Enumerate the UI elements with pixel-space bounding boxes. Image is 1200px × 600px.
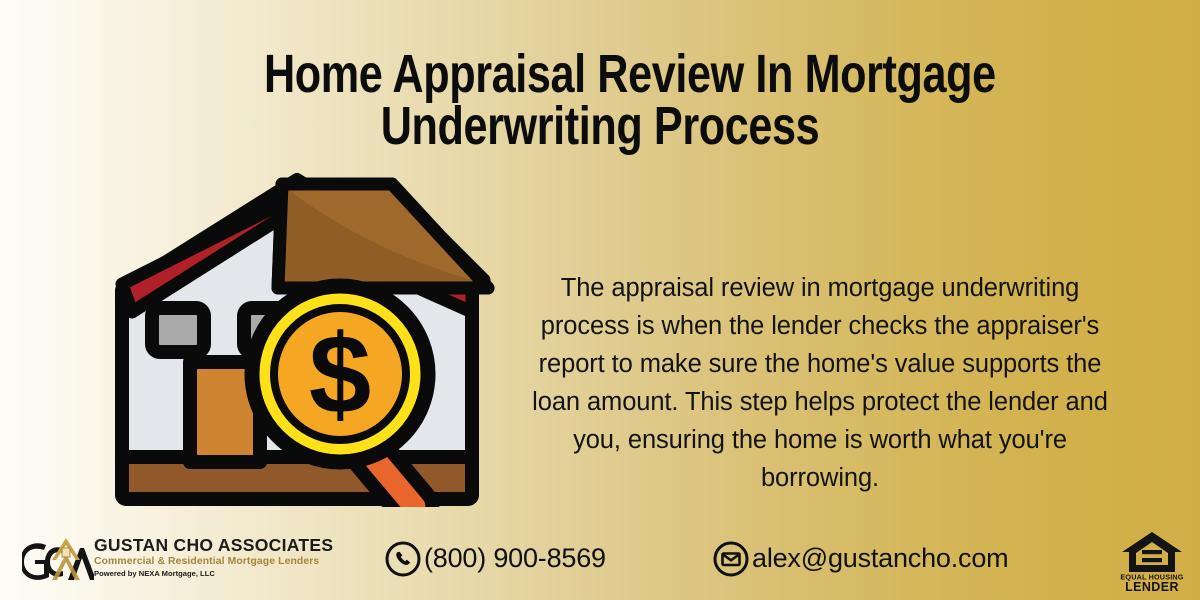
footer-bar: GUSTAN CHO ASSOCIATES Commercial & Resid… xyxy=(0,520,1200,600)
equal-housing-lender-badge: EQUAL HOUSING LENDER xyxy=(1118,526,1186,594)
gca-window xyxy=(62,548,70,557)
email-address: alex@gustancho.com xyxy=(752,545,1008,574)
contact-email[interactable]: alex@gustancho.com xyxy=(712,540,1008,578)
phone-icon xyxy=(384,540,422,578)
house-appraisal-illustration: $ xyxy=(92,172,502,507)
company-subline: Powered by NEXA Mortgage, LLC xyxy=(94,568,294,579)
page-title-line-2: Underwriting Process xyxy=(264,100,936,152)
gca-monogram-icon xyxy=(22,534,94,584)
company-logo-text: GUSTAN CHO ASSOCIATES Commercial & Resid… xyxy=(94,536,294,579)
equal-housing-lender-icon: EQUAL HOUSING LENDER xyxy=(1118,526,1186,594)
equal-housing-line-2: LENDER xyxy=(1125,580,1179,594)
window-left xyxy=(152,308,204,352)
gca-letter-g xyxy=(22,543,49,580)
page-title-line-1: Home Appraisal Review In Mortgage xyxy=(264,48,936,100)
page-title: Home Appraisal Review In Mortgage Underw… xyxy=(180,48,1020,152)
marketing-banner: Home Appraisal Review In Mortgage Underw… xyxy=(0,0,1200,600)
company-tagline: Commercial & Residential Mortgage Lender… xyxy=(94,555,294,568)
body-paragraph: The appraisal review in mortgage underwr… xyxy=(515,269,1125,497)
envelope-icon xyxy=(712,540,750,578)
contact-phone[interactable]: (800) 900-8569 xyxy=(384,540,606,578)
phone-number: (800) 900-8569 xyxy=(424,545,606,574)
company-name: GUSTAN CHO ASSOCIATES xyxy=(94,536,294,555)
company-logo[interactable]: GUSTAN CHO ASSOCIATES Commercial & Resid… xyxy=(22,530,292,588)
dollar-sign-icon: $ xyxy=(309,312,371,437)
